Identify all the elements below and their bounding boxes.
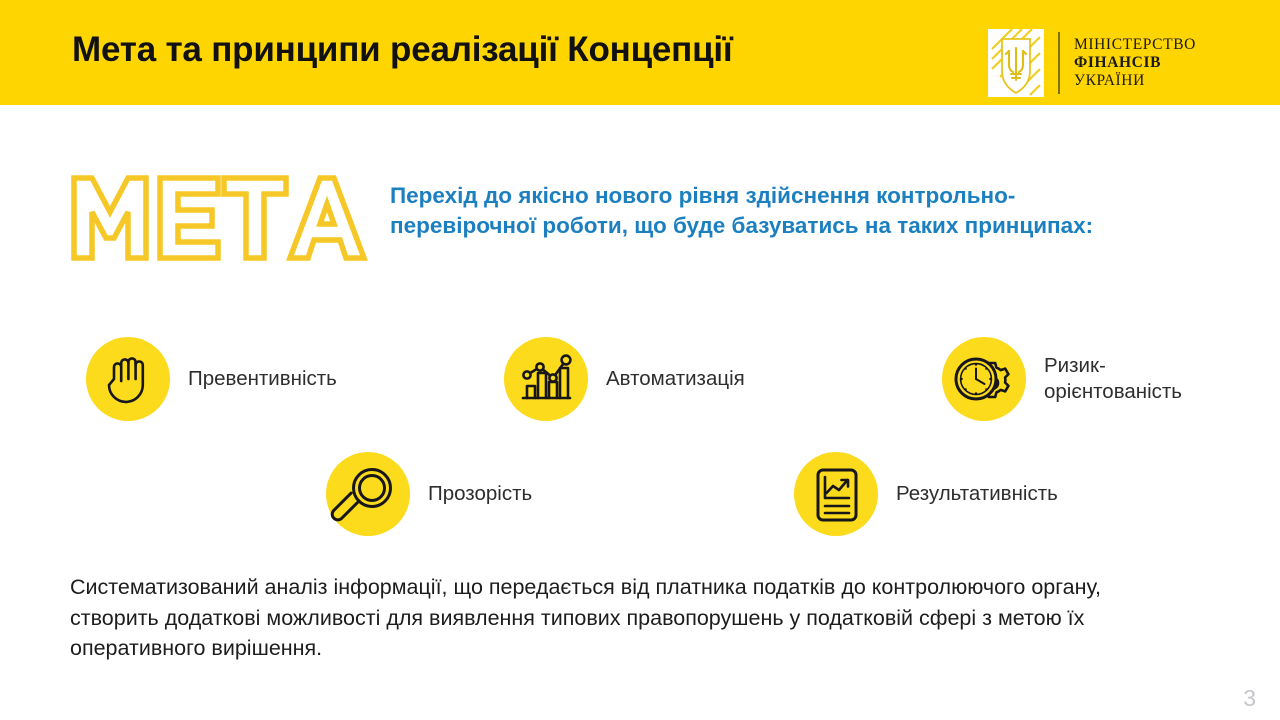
logo-line-3: УКРАЇНИ (1074, 72, 1196, 90)
principle-badge-prevent (86, 337, 170, 421)
principle-label-risk: Ризик- орієнтованість (1044, 353, 1182, 405)
principle-item-prevent: Превентивність (86, 337, 337, 421)
summary-paragraph: Систематизований аналіз інформації, що п… (70, 572, 1176, 664)
principle-item-transp: Прозорість (326, 452, 532, 536)
principle-label-transp: Прозорість (428, 481, 532, 507)
meta-wordmark (68, 172, 368, 264)
document-trend-icon (794, 452, 878, 536)
principle-item-auto: Автоматизація (504, 337, 745, 421)
logo-divider (1058, 32, 1060, 94)
hand-palm-icon (86, 337, 170, 421)
principle-badge-auto (504, 337, 588, 421)
principle-badge-risk (942, 337, 1026, 421)
principle-label-auto: Автоматизація (606, 366, 745, 392)
logo-line-1: МІНІСТЕРСТВО (1074, 36, 1196, 54)
logo-line-2: ФІНАНСІВ (1074, 54, 1196, 72)
slide-header: Мета та принципи реалізації Концепції (0, 0, 1280, 105)
principle-badge-transp (326, 452, 410, 536)
logo-text: МІНІСТЕРСТВО ФІНАНСІВ УКРАЇНИ (1074, 36, 1196, 90)
ukraine-trident-emblem-icon (986, 27, 1046, 99)
principle-badge-result (794, 452, 878, 536)
bar-chart-line-icon (504, 337, 588, 421)
principle-label-prevent: Превентивність (188, 366, 337, 392)
principle-item-risk: Ризик- орієнтованість (942, 337, 1182, 421)
principle-item-result: Результативність (794, 452, 1058, 536)
principle-label-result: Результативність (896, 481, 1058, 507)
goal-intro-text: Перехід до якісно нового рівня здійсненн… (390, 181, 1150, 241)
magnifier-icon (326, 452, 410, 536)
page-title: Мета та принципи реалізації Концепції (72, 30, 733, 70)
page-number: 3 (1243, 685, 1256, 712)
clock-gear-icon (942, 337, 1026, 421)
ministry-logo: МІНІСТЕРСТВО ФІНАНСІВ УКРАЇНИ (986, 26, 1216, 100)
